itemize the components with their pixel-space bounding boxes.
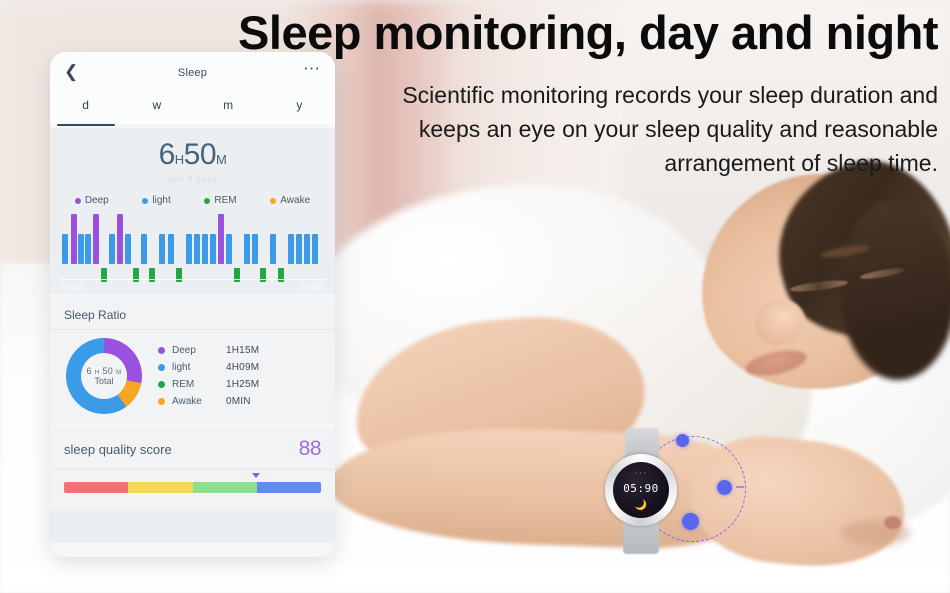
axis-label-start: 00:00 [62,283,84,292]
ratio-row-rem: REM 1H25M [158,376,323,393]
sleep-duration-panel: 6H50M last 8 days Deep light REM [50,128,335,294]
ellipsis-icon[interactable]: ⋯ [303,60,321,77]
duration-minutes: 50 [184,138,216,171]
watch-time: 05:90 [613,482,669,495]
duration-hours-unit: H [175,152,184,167]
watch-status-icons: ▪ ▪ ▪ [613,470,669,475]
chart-bar [85,234,91,264]
tab-year[interactable]: y [264,98,335,124]
score-segment [128,482,192,493]
chart-bar [202,234,208,264]
chart-bar [141,234,147,264]
chart-bar [296,234,302,264]
ratio-swatch-deep [158,347,165,354]
chart-bar [218,214,224,264]
score-segment [64,482,128,493]
chart-plot-area [60,210,325,290]
sleep-ratio-title: Sleep Ratio [50,298,335,330]
chart-bar [159,234,165,264]
ratio-swatch-rem [158,381,165,388]
sleeper-hair-back [840,200,950,380]
app-topbar: ❮ Sleep ⋯ [50,52,335,98]
chart-bar [288,234,294,264]
orbit-node-top-icon [676,434,689,447]
chart-bar [62,234,68,264]
smartwatch: ▪ ▪ ▪ 05:90 🌙 [603,452,679,528]
score-label: sleep quality score [64,442,172,457]
sleep-ratio-donut-chart: 6 H 50 M Total [66,338,142,414]
page-title: Sleep monitoring, day and night [190,8,938,58]
chart-bar [186,234,192,264]
chart-axis-line [60,279,325,280]
chart-bar [117,214,123,264]
moon-icon: 🌙 [635,500,647,511]
ratio-swatch-awake [158,398,165,405]
legend-item-rem: REM [204,195,236,206]
ratio-label-rem: REM [172,379,226,390]
phone-card-footer [50,509,335,543]
legend-swatch-light [142,198,148,204]
legend-swatch-awake [270,198,276,204]
legend-item-awake: Awake [270,195,310,206]
legend-item-light: light [142,195,170,206]
ratio-value-light: 4H09M [226,362,259,373]
sleep-ratio-body: 6 H 50 M Total Deep 1H15M [50,330,335,424]
tab-day[interactable]: d [50,98,121,124]
score-segment [193,482,257,493]
period-tabs: d w m y [50,98,335,124]
ratio-value-deep: 1H15M [226,345,259,356]
score-header: sleep quality score 88 [50,428,335,470]
tab-week[interactable]: w [121,98,192,124]
sleep-quality-panel: sleep quality score 88 [50,428,335,509]
sleep-stage-chart: 00:00 07:00 [50,210,335,294]
score-gradient-bar [64,482,321,493]
legend-swatch-deep [75,198,81,204]
ratio-label-light: light [172,362,226,373]
chart-bar [252,234,258,264]
promo-banner: ▪ ▪ ▪ 05:90 🌙 Sleep monitoring, day and … [0,0,950,593]
sleep-ratio-list: Deep 1H15M light 4H09M REM 1H25M [142,342,323,410]
donut-caption: Total [94,376,113,386]
ratio-label-awake: Awake [172,396,226,407]
ratio-value-awake: 0MIN [226,396,251,407]
chart-legend: Deep light REM Awake [50,188,335,210]
legend-label-light: light [152,195,170,206]
score-segment [257,482,321,493]
legend-item-deep: Deep [75,195,109,206]
total-sleep-duration: 6H50M last 8 days [50,128,335,188]
legend-label-deep: Deep [85,195,109,206]
legend-swatch-rem [204,198,210,204]
chart-bar [125,234,131,264]
chart-bar [270,234,276,264]
phone-app-card: ❮ Sleep ⋯ d w m y 6H50M last 8 days Deep [50,52,335,557]
score-bar-wrapper [50,470,335,509]
chart-bar [93,214,99,264]
axis-label-end: 07:00 [301,283,323,292]
chart-bar [71,214,77,264]
orbit-node-tick [736,486,744,488]
chart-bar [109,234,115,264]
duration-hours: 6 [159,138,175,171]
fingernail [884,516,901,529]
sleep-ratio-panel: Sleep Ratio 6 H 50 M Total [50,298,335,424]
score-marker [252,473,260,478]
chart-bar [210,234,216,264]
chart-bar [194,234,200,264]
ratio-label-deep: Deep [172,345,226,356]
duration-sublabel: last 8 days [50,174,335,184]
chart-bar [168,234,174,264]
chart-bar [312,234,318,264]
legend-label-awake: Awake [280,195,310,206]
chart-bar [226,234,232,264]
tab-month[interactable]: m [193,98,264,124]
legend-label-rem: REM [214,195,236,206]
donut-minutes: 50 [102,366,113,376]
chart-bar [244,234,250,264]
page-subtitle: Scientific monitoring records your sleep… [350,78,938,180]
ratio-value-rem: 1H25M [226,379,259,390]
watch-face: ▪ ▪ ▪ 05:90 🌙 [613,462,669,518]
chart-bar [78,234,84,264]
duration-minutes-unit: M [216,152,226,167]
donut-minutes-unit: M [116,370,121,376]
score-value: 88 [299,437,321,461]
ratio-swatch-light [158,364,165,371]
donut-center-label: 6 H 50 M Total [81,353,127,399]
app-title: Sleep [50,67,335,79]
ratio-row-deep: Deep 1H15M [158,342,323,359]
ratio-row-awake: Awake 0MIN [158,393,323,410]
orbit-node-right-icon [717,480,732,495]
ratio-row-light: light 4H09M [158,359,323,376]
chart-bar [304,234,310,264]
orbit-node-bottom-icon [682,513,699,530]
donut-hours: 6 [86,366,91,376]
